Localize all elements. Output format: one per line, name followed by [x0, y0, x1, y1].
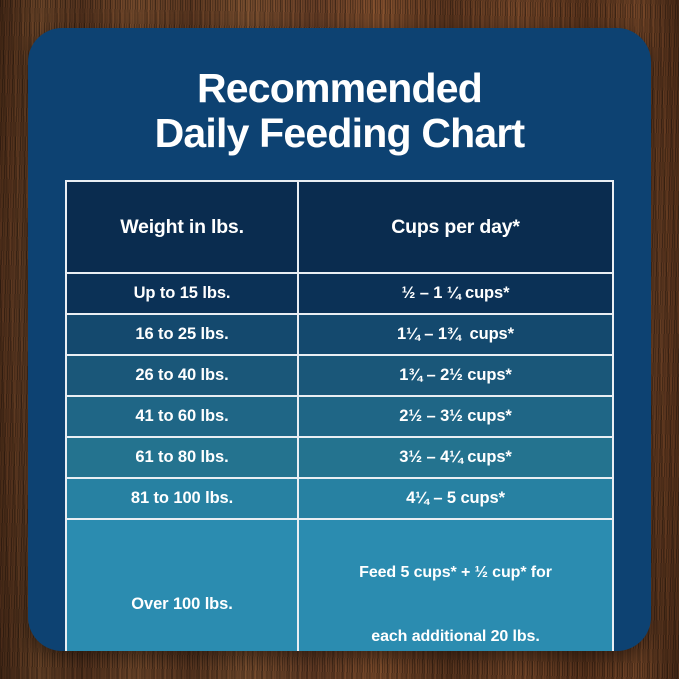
table-row: 81 to 100 lbs. 4¼ – 5 cups* [66, 478, 613, 519]
feeding-table: Weight in lbs. Cups per day* Up to 15 lb… [65, 180, 614, 651]
cell-cups-line-2: each additional 20 lbs. [305, 626, 606, 647]
cell-weight: Up to 15 lbs. [66, 273, 298, 314]
cell-cups: 3½ – 4¼ cups* [298, 437, 613, 478]
cell-cups: Feed 5 cups* + ½ cup* for each additiona… [298, 519, 613, 651]
table-row: 41 to 60 lbs. 2½ – 3½ cups* [66, 396, 613, 437]
cell-cups: 4¼ – 5 cups* [298, 478, 613, 519]
cell-weight: 81 to 100 lbs. [66, 478, 298, 519]
cell-cups-line-1: Feed 5 cups* + ½ cup* for [305, 562, 606, 583]
table-row: 61 to 80 lbs. 3½ – 4¼ cups* [66, 437, 613, 478]
column-header-weight: Weight in lbs. [66, 181, 298, 273]
cell-cups: 1¾ – 2½ cups* [298, 355, 613, 396]
title-line-1: Recommended [28, 66, 651, 111]
cell-weight: Over 100 lbs. [66, 519, 298, 651]
table-header: Weight in lbs. Cups per day* [66, 181, 613, 273]
column-header-cups: Cups per day* [298, 181, 613, 273]
cell-weight: 16 to 25 lbs. [66, 314, 298, 355]
title-line-2: Daily Feeding Chart [28, 111, 651, 156]
table-row: 26 to 40 lbs. 1¾ – 2½ cups* [66, 355, 613, 396]
cell-weight: 26 to 40 lbs. [66, 355, 298, 396]
table-body: Up to 15 lbs. ½ – 1 ¼ cups* 16 to 25 lbs… [66, 273, 613, 651]
page-title: Recommended Daily Feeding Chart [28, 28, 651, 156]
cell-weight: 61 to 80 lbs. [66, 437, 298, 478]
feeding-chart-card: Recommended Daily Feeding Chart Weight i… [28, 28, 651, 651]
table-row: Over 100 lbs. Feed 5 cups* + ½ cup* for … [66, 519, 613, 651]
cell-cups: ½ – 1 ¼ cups* [298, 273, 613, 314]
cell-cups: 2½ – 3½ cups* [298, 396, 613, 437]
table-header-row: Weight in lbs. Cups per day* [66, 181, 613, 273]
cell-cups: 1¼ – 1¾ cups* [298, 314, 613, 355]
table-row: Up to 15 lbs. ½ – 1 ¼ cups* [66, 273, 613, 314]
table-row: 16 to 25 lbs. 1¼ – 1¾ cups* [66, 314, 613, 355]
cell-weight: 41 to 60 lbs. [66, 396, 298, 437]
